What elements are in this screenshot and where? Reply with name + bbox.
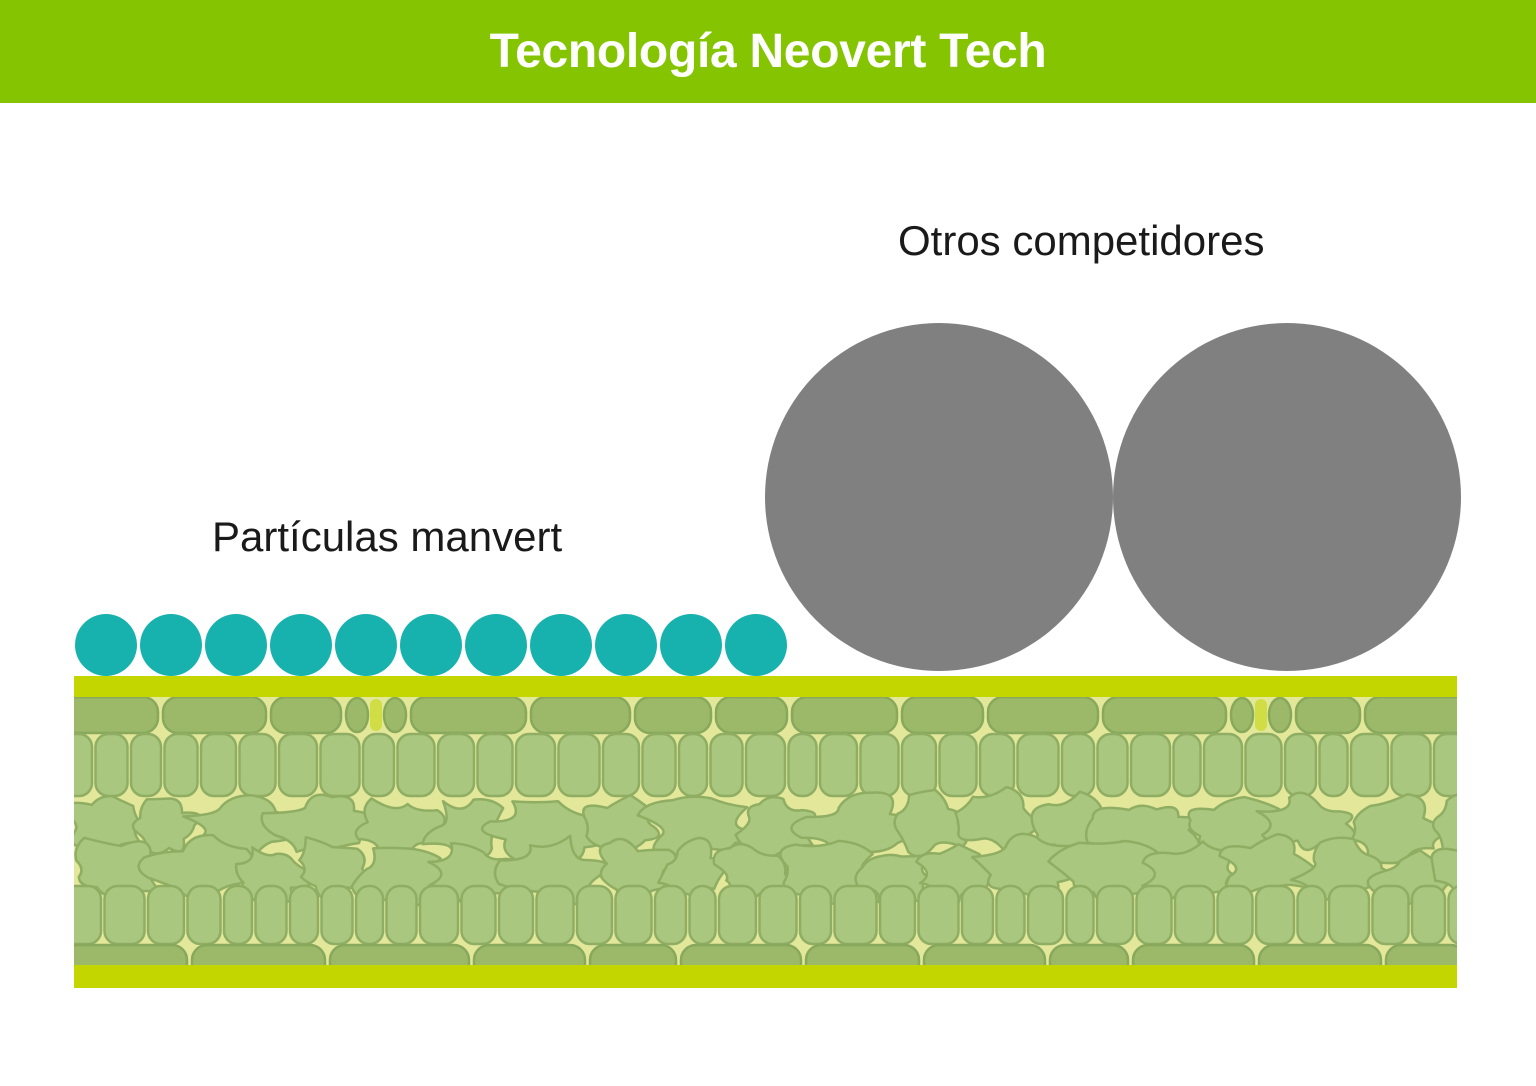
palisade-cell — [800, 886, 831, 944]
palisade-cell — [679, 734, 707, 796]
page-title: Tecnología Neovert Tech — [0, 0, 1536, 103]
palisade-cell — [240, 734, 276, 796]
cuticle-top-layer — [74, 676, 1457, 697]
palisade-cell — [1434, 734, 1457, 796]
palisade-cell — [1067, 886, 1094, 944]
palisade-cell — [165, 734, 198, 796]
palisade-cell — [577, 886, 612, 944]
palisade-cell — [131, 734, 161, 796]
stomata-pore — [1255, 699, 1267, 731]
upper-epidermis-cell — [635, 697, 711, 733]
palisade-cell — [760, 886, 797, 944]
palisade-cell — [1097, 886, 1133, 944]
palisade-cell — [962, 886, 993, 944]
upper-epidermis-cell — [792, 697, 897, 733]
palisade-cell — [499, 886, 533, 944]
competitors-label: Otros competidores — [898, 217, 1264, 265]
palisade-cell — [1285, 734, 1316, 796]
leaf-cross-section — [74, 676, 1457, 988]
upper-epidermis-cell — [1103, 697, 1226, 733]
palisade-cell — [746, 734, 785, 796]
palisade-cell — [1329, 886, 1369, 944]
palisade-cell — [616, 886, 652, 944]
leaf-cross-section-graphic — [74, 676, 1457, 988]
stomata-guard-cell — [384, 698, 406, 732]
upper-epidermis-cell — [716, 697, 787, 733]
palisade-cell — [279, 734, 317, 796]
palisade-cell — [1449, 886, 1458, 944]
upper-epidermis-cell — [271, 697, 341, 733]
palisade-cell — [1392, 734, 1431, 796]
palisade-cell — [997, 886, 1025, 944]
stomata-pore — [370, 699, 382, 731]
palisade-cell — [1098, 734, 1128, 796]
upper-epidermis-cell — [411, 697, 526, 733]
palisade-cell — [462, 886, 496, 944]
palisade-cell — [224, 886, 252, 944]
palisade-cell — [1412, 886, 1445, 944]
palisade-cell — [835, 886, 877, 944]
upper-epidermis-cell — [531, 697, 630, 733]
palisade-cell — [902, 734, 936, 796]
competitor-particle-circle — [765, 323, 1113, 671]
palisade-cell — [148, 886, 184, 944]
palisade-cell — [719, 886, 756, 944]
palisade-cell — [1204, 734, 1242, 796]
manvert-particle-circle — [270, 614, 332, 676]
upper-epidermis-cell — [74, 697, 158, 733]
palisade-cell — [363, 734, 394, 796]
palisade-cell — [1175, 886, 1214, 944]
palisade-cell — [321, 734, 360, 796]
palisade-cell — [1062, 734, 1094, 796]
upper-epidermis-cell — [988, 697, 1098, 733]
manvert-particle-circle — [725, 614, 787, 676]
palisade-cell — [690, 886, 716, 944]
manvert-particle-circle — [595, 614, 657, 676]
palisade-cell — [420, 886, 458, 944]
palisade-cell — [201, 734, 236, 796]
palisade-cell — [820, 734, 857, 796]
palisade-cell — [1174, 734, 1201, 796]
manvert-particle-circle — [400, 614, 462, 676]
palisade-cell — [880, 886, 915, 944]
manvert-particle-circle — [75, 614, 137, 676]
upper-epidermis-cell — [163, 697, 266, 733]
manvert-particle-circle — [530, 614, 592, 676]
palisade-cell — [105, 886, 145, 944]
palisade-cell — [322, 886, 353, 944]
palisade-cell — [1218, 886, 1253, 944]
manvert-particle-circle — [465, 614, 527, 676]
palisade-cell — [603, 734, 639, 796]
palisade-cell — [256, 886, 287, 944]
palisade-cell — [387, 886, 417, 944]
manvert-particle-circle — [660, 614, 722, 676]
palisade-cell — [1256, 886, 1294, 944]
competitor-particle-circle — [1113, 323, 1461, 671]
palisade-cell — [74, 734, 92, 796]
upper-epidermis-cell — [1365, 697, 1457, 733]
palisade-cell — [655, 886, 686, 944]
palisade-cell — [438, 734, 474, 796]
stomata-guard-cell — [346, 698, 368, 732]
stomata-guard-cell — [1269, 698, 1291, 732]
palisade-cell — [1246, 734, 1282, 796]
stomata-guard-cell — [1231, 698, 1253, 732]
palisade-cell — [356, 886, 383, 944]
cuticle-bottom-layer — [74, 965, 1457, 988]
palisade-cell — [398, 734, 435, 796]
palisade-cell — [711, 734, 743, 796]
palisade-cell — [1351, 734, 1388, 796]
palisade-cell — [537, 886, 574, 944]
manvert-particle-circle — [335, 614, 397, 676]
palisade-cell — [1320, 734, 1348, 796]
palisade-cell — [478, 734, 513, 796]
palisade-cell — [789, 734, 817, 796]
palisade-cell — [1298, 886, 1326, 944]
palisade-cell — [516, 734, 555, 796]
palisade-cell — [940, 734, 977, 796]
manvert-particle-circle — [140, 614, 202, 676]
palisade-cell — [919, 886, 959, 944]
palisade-cell — [1028, 886, 1063, 944]
palisade-cell — [1373, 886, 1409, 944]
manvert-particles-label: Partículas manvert — [212, 513, 562, 561]
palisade-cell — [643, 734, 676, 796]
palisade-cell — [96, 734, 128, 796]
slide-canvas: Tecnología Neovert Tech Otros competidor… — [0, 0, 1536, 1086]
palisade-cell — [188, 886, 221, 944]
palisade-cell — [1018, 734, 1059, 796]
palisade-cell — [290, 886, 318, 944]
upper-epidermis-cell — [902, 697, 983, 733]
title-banner: Tecnología Neovert Tech — [0, 0, 1536, 103]
palisade-cell — [1137, 886, 1172, 944]
upper-epidermis-cell — [1296, 697, 1360, 733]
palisade-cell — [559, 734, 600, 796]
manvert-particle-circle — [205, 614, 267, 676]
palisade-cell — [861, 734, 899, 796]
palisade-cell — [74, 886, 101, 944]
palisade-cell — [1131, 734, 1170, 796]
